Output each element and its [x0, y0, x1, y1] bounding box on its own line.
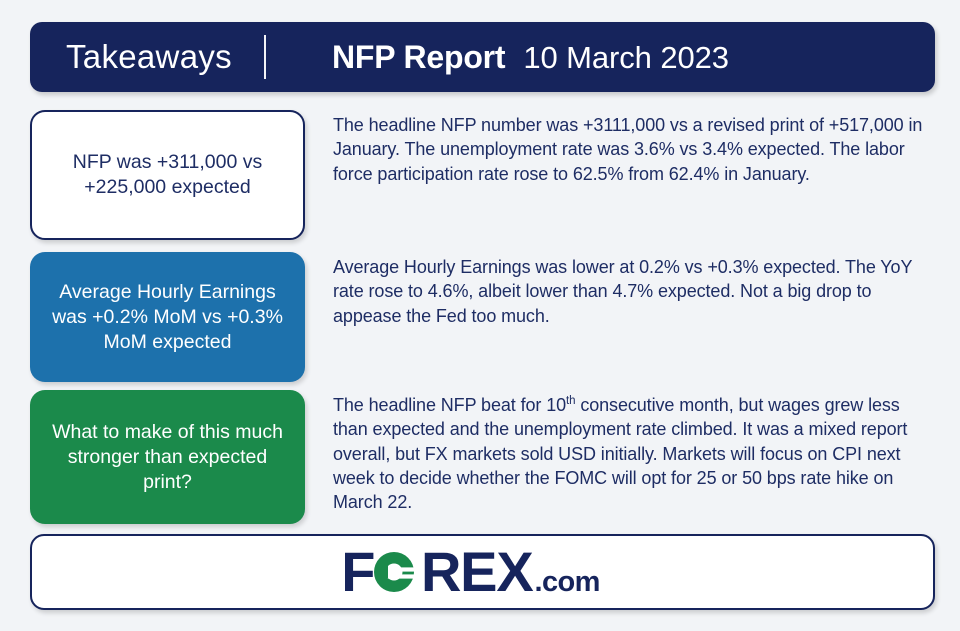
logo-tld-com: .com: [534, 568, 599, 600]
vertical-divider-icon: [264, 35, 266, 79]
takeaway-paragraph-earnings: Average Hourly Earnings was lower at 0.2…: [305, 252, 935, 328]
takeaway-row: Average Hourly Earnings was +0.2% MoM vs…: [30, 252, 935, 382]
takeaway-paragraph-nfp: The headline NFP number was +3111,000 vs…: [305, 110, 935, 186]
takeaway-card-outlook: What to make of this much stronger than …: [30, 390, 305, 524]
logo-letter-f: F: [341, 544, 374, 600]
logo-panel: F REX .com: [30, 534, 935, 610]
logo-letters-rex: REX: [421, 544, 533, 600]
takeaway-paragraph-outlook: The headline NFP beat for 10th consecuti…: [305, 390, 935, 514]
header-banner: Takeaways NFP Report 10 March 2023: [30, 22, 935, 92]
forex-euro-o-icon: [373, 549, 419, 595]
forex-com-logo: F REX .com: [341, 544, 600, 600]
header-takeaways-label: Takeaways: [30, 38, 232, 76]
report-date: 10 March 2023: [523, 40, 729, 76]
takeaway-row: NFP was +311,000 vs +225,000 expected Th…: [30, 110, 935, 240]
takeaway-card-nfp: NFP was +311,000 vs +225,000 expected: [30, 110, 305, 240]
paragraph-text-lead: The headline NFP beat for 10: [333, 395, 566, 415]
takeaway-row: What to make of this much stronger than …: [30, 390, 935, 524]
header-title-group: NFP Report 10 March 2023: [332, 39, 729, 76]
takeaway-card-earnings: Average Hourly Earnings was +0.2% MoM vs…: [30, 252, 305, 382]
infographic-canvas: Takeaways NFP Report 10 March 2023 NFP w…: [0, 0, 960, 631]
page-title: NFP Report: [332, 39, 505, 76]
